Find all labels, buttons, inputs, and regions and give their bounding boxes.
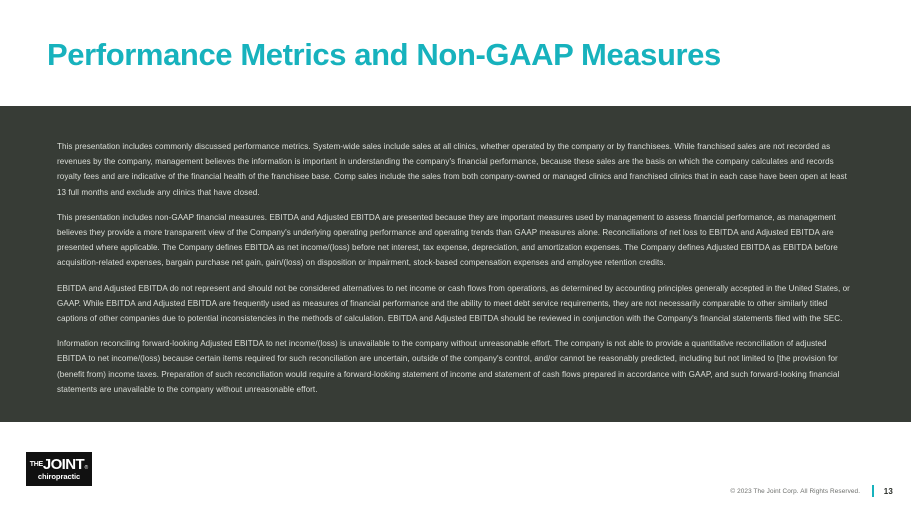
logo-joint-text: JOINT (43, 457, 84, 472)
page-title: Performance Metrics and Non-GAAP Measure… (47, 38, 721, 72)
footer-divider (872, 485, 874, 497)
logo-wordmark: THE JOINT ® (30, 457, 88, 472)
the-joint-chiropractic-logo: THE JOINT ® chiropractic (26, 452, 92, 486)
disclosure-panel: This presentation includes commonly disc… (0, 106, 911, 422)
disclosure-text-block: This presentation includes commonly disc… (57, 139, 857, 397)
slide: Performance Metrics and Non-GAAP Measure… (0, 0, 911, 512)
paragraph-forward-looking-reconciliation: Information reconciling forward-looking … (57, 336, 857, 397)
page-number: 13 (884, 487, 893, 496)
title-band: Performance Metrics and Non-GAAP Measure… (0, 0, 911, 106)
paragraph-ebitda-limitations: EBITDA and Adjusted EBITDA do not repres… (57, 281, 857, 327)
paragraph-non-gaap-measures: This presentation includes non-GAAP fina… (57, 210, 857, 271)
logo-tagline-text: chiropractic (38, 473, 80, 481)
footer-meta: © 2023 The Joint Corp. All Rights Reserv… (730, 484, 893, 498)
copyright-text: © 2023 The Joint Corp. All Rights Reserv… (730, 488, 860, 495)
logo-the-text: THE (30, 461, 43, 468)
slide-footer: THE JOINT ® chiropractic © 2023 The Join… (0, 422, 911, 512)
registered-trademark-icon: ® (85, 466, 89, 471)
paragraph-performance-metrics: This presentation includes commonly disc… (57, 139, 857, 200)
